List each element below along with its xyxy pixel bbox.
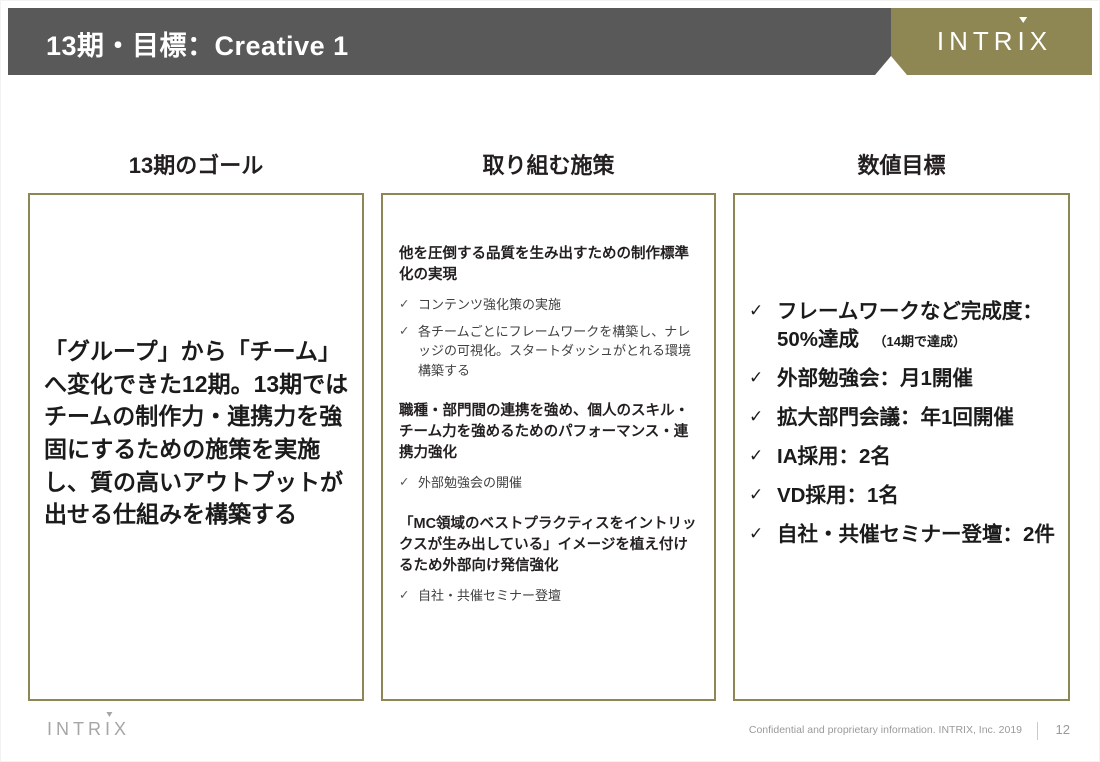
list-item-label: IA採用：2名 <box>777 445 891 468</box>
list-item: ✓ 自社・共催セミナー登壇 <box>399 586 700 606</box>
panel-goal: 「グループ」から「チーム」へ変化できた12期。13期ではチームの制作力・連携力を… <box>28 193 364 701</box>
list-item-label: 拡大部門会議：年1回開催 <box>777 406 1014 429</box>
intrix-logo: INTRIX <box>891 8 1092 75</box>
targets-list: ✓ フレームワークなど完成度：50%達成 （14期で達成） ✓ 外部勉強会：月1… <box>749 298 1056 561</box>
check-icon: ✓ <box>749 443 777 469</box>
list-item: ✓ 拡大部門会議：年1回開催 <box>749 404 1056 432</box>
list-item-note: （14期で達成） <box>863 334 965 349</box>
footer-intrix-logo: INTRIX <box>47 719 130 740</box>
measure-block: 職種・部門間の連携を強め、個人のスキル・チーム力を強めるためのパフォーマンス・連… <box>399 401 700 493</box>
check-icon: ✓ <box>749 521 777 547</box>
list-item-body: 拡大部門会議：年1回開催 <box>777 404 1056 432</box>
list-item: ✓ IA採用：2名 <box>749 443 1056 471</box>
header-brand-block: INTRIX <box>891 8 1092 75</box>
check-icon: ✓ <box>749 365 777 391</box>
panel-targets: ✓ フレームワークなど完成度：50%達成 （14期で達成） ✓ 外部勉強会：月1… <box>733 193 1070 701</box>
measure-heading: 職種・部門間の連携を強め、個人のスキル・チーム力を強めるためのパフォーマンス・連… <box>399 401 700 464</box>
slide-header: 13期・目標：Creative 1 INTRIX <box>8 8 1092 75</box>
list-item-body: VD採用：1名 <box>777 482 1056 510</box>
check-icon: ✓ <box>749 404 777 430</box>
list-item-label: 外部勉強会：月1開催 <box>777 367 973 390</box>
header-notch-triangle-icon <box>875 56 907 75</box>
list-item-body: 自社・共催セミナー登壇：2件 <box>777 521 1056 549</box>
list-item: ✓ VD採用：1名 <box>749 482 1056 510</box>
measure-heading: 他を圧倒する品質を生み出すための制作標準化の実現 <box>399 244 700 286</box>
column-heading-measures: 取り組む施策 <box>381 148 716 180</box>
list-item-label: 自社・共催セミナー登壇：2件 <box>777 523 1055 546</box>
logo-triangle-icon: I <box>1018 26 1030 57</box>
page-title: 13期・目標：Creative 1 <box>46 24 349 63</box>
list-item: ✓ 外部勉強会の開催 <box>399 473 700 493</box>
goal-statement: 「グループ」から「チーム」へ変化できた12期。13期ではチームの制作力・連携力を… <box>44 335 352 531</box>
slide: 13期・目標：Creative 1 INTRIX 13期のゴール 取り組む施策 … <box>0 0 1100 762</box>
list-item: ✓ コンテンツ強化策の実施 <box>399 295 700 315</box>
check-icon: ✓ <box>399 322 418 341</box>
list-item-label: VD採用：1名 <box>777 484 899 507</box>
list-item-label: コンテンツ強化策の実施 <box>418 295 700 315</box>
list-item: ✓ 各チームごとにフレームワークを構築し、ナレッジの可視化。スタートダッシュがと… <box>399 322 700 381</box>
list-item-label: 自社・共催セミナー登壇 <box>418 586 700 606</box>
footer-divider <box>1037 722 1038 740</box>
column-heading-targets: 数値目標 <box>733 148 1070 180</box>
check-icon: ✓ <box>399 586 418 605</box>
logo-text-post: X <box>1030 26 1052 57</box>
list-item: ✓ 自社・共催セミナー登壇：2件 <box>749 521 1056 549</box>
footer-logo-text-pre: INTR <box>47 719 105 739</box>
panel-measures: 他を圧倒する品質を生み出すための制作標準化の実現 ✓ コンテンツ強化策の実施 ✓… <box>381 193 716 701</box>
list-item-label: 各チームごとにフレームワークを構築し、ナレッジの可視化。スタートダッシュがとれる… <box>418 322 700 381</box>
logo-text-pre: INTR <box>937 26 1018 57</box>
confidentiality-note: Confidential and proprietary information… <box>749 724 1022 736</box>
check-icon: ✓ <box>399 473 418 492</box>
measure-block: 他を圧倒する品質を生み出すための制作標準化の実現 ✓ コンテンツ強化策の実施 ✓… <box>399 244 700 380</box>
list-item-label: 外部勉強会の開催 <box>418 473 700 493</box>
measure-heading: 「MC領域のベストプラクティスをイントリックスが生み出している」イメージを植え付… <box>399 514 700 577</box>
check-icon: ✓ <box>399 295 418 314</box>
measures-list: 他を圧倒する品質を生み出すための制作標準化の実現 ✓ コンテンツ強化策の実施 ✓… <box>399 244 700 626</box>
check-icon: ✓ <box>749 298 777 324</box>
footer-logo-text-post: X <box>114 719 130 739</box>
page-number: 12 <box>1056 722 1070 737</box>
list-item-body: 外部勉強会：月1開催 <box>777 365 1056 393</box>
footer-logo-triangle-icon: I <box>105 719 114 740</box>
check-icon: ✓ <box>749 482 777 508</box>
header-title-bar: 13期・目標：Creative 1 <box>8 8 891 75</box>
measure-block: 「MC領域のベストプラクティスをイントリックスが生み出している」イメージを植え付… <box>399 514 700 606</box>
column-heading-goal: 13期のゴール <box>28 148 364 180</box>
list-item: ✓ フレームワークなど完成度：50%達成 （14期で達成） <box>749 298 1056 354</box>
list-item-body: フレームワークなど完成度：50%達成 （14期で達成） <box>777 298 1056 354</box>
list-item-body: IA採用：2名 <box>777 443 1056 471</box>
list-item: ✓ 外部勉強会：月1開催 <box>749 365 1056 393</box>
